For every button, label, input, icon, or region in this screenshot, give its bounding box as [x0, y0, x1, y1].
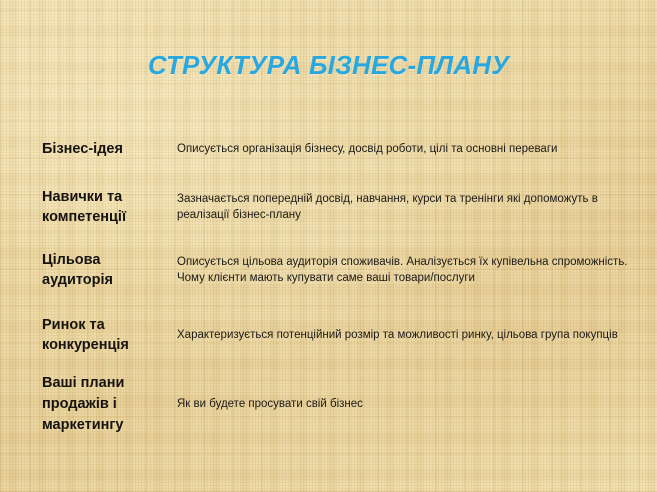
row-label-sales-marketing-plans: Ваші плани продажів і маркетингу — [42, 373, 172, 436]
table-row: Ринок та конкуренція Характеризується по… — [0, 310, 657, 360]
table-row: Ваші плани продажів і маркетингу Як ви б… — [0, 368, 657, 440]
row-description-target-audience: Описується цільова аудиторія споживачів.… — [177, 254, 641, 286]
slide-canvas: СТРУКТУРА БІЗНЕС-ПЛАНУ Бізнес-ідея Опису… — [0, 0, 657, 492]
row-description-skills-competencies: Зазначається попередній досвід, навчання… — [177, 191, 641, 223]
row-label-business-idea: Бізнес-ідея — [42, 139, 172, 159]
row-description-business-idea: Описується організація бізнесу, досвід р… — [177, 141, 641, 157]
row-description-sales-marketing-plans: Як ви будете просувати свій бізнес — [177, 396, 641, 412]
table-row: Навички та компетенції Зазначається попе… — [0, 182, 657, 232]
row-label-target-audience: Цільова аудиторія — [42, 250, 172, 290]
page-title: СТРУКТУРА БІЗНЕС-ПЛАНУ — [0, 50, 657, 81]
table-row: Бізнес-ідея Описується організація бізне… — [0, 132, 657, 166]
row-label-market-competition: Ринок та конкуренція — [42, 315, 172, 355]
row-label-skills-competencies: Навички та компетенції — [42, 187, 172, 227]
table-row: Цільова аудиторія Описується цільова ауд… — [0, 245, 657, 295]
row-description-market-competition: Характеризується потенційний розмір та м… — [177, 327, 641, 343]
